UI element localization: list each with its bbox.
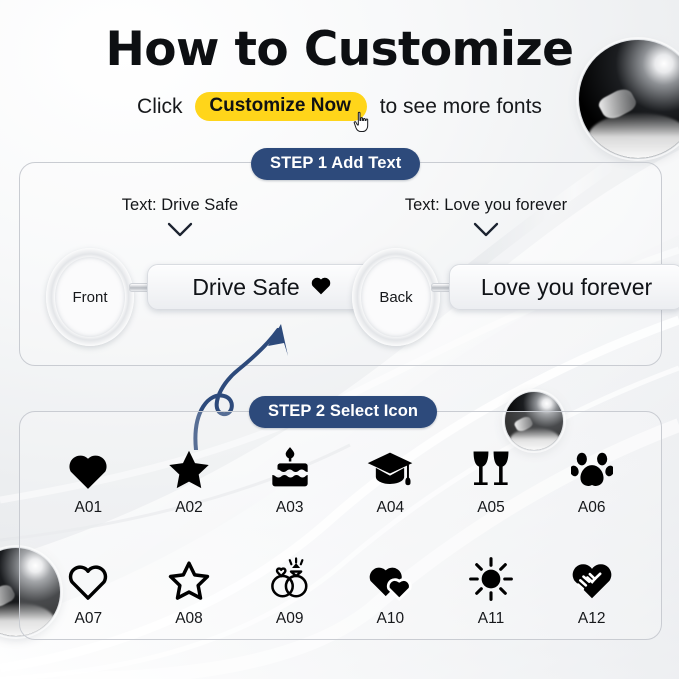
icon-option-a05[interactable]: A05 [441,446,542,517]
icon-option-a03[interactable]: A03 [239,446,340,517]
icon-grid: A01 A02 A03 [38,446,642,628]
icon-option-a04[interactable]: A04 [340,446,441,517]
heart-filled-icon [66,446,110,490]
keyring-back: Back [352,248,440,346]
keyring-back-label: Back [352,248,440,346]
icon-option-a01[interactable]: A01 [38,446,139,517]
icon-option-a02[interactable]: A02 [139,446,240,517]
customize-now-label: Customize Now [209,95,350,116]
icon-code: A02 [175,499,203,517]
hand-pointer-icon [351,110,373,134]
icon-option-a07[interactable]: A07 [38,557,139,628]
icon-option-a10[interactable]: A10 [340,557,441,628]
keychain-plate-back: Love you forever [449,264,679,310]
keychain-plate-back-text: Love you forever [481,274,652,301]
icon-code: A11 [478,610,504,628]
keyring-front-label: Front [46,248,134,346]
icon-option-a09[interactable]: A09 [239,557,340,628]
keychain-plate-front-text: Drive Safe [192,274,299,301]
customize-now-button[interactable]: Customize Now [195,92,366,121]
heart-handshake-icon [569,557,615,601]
wine-glasses-icon [470,446,512,490]
heart-outline-icon [66,557,110,601]
keyring-front: Front [46,248,134,346]
sun-icon [469,557,513,601]
wedding-rings-icon [266,557,314,601]
icon-code: A09 [276,610,304,628]
step2-badge: STEP 2 Select Icon [249,396,437,428]
icon-code: A04 [377,499,405,517]
birthday-cake-icon [270,446,310,490]
icon-code: A01 [75,499,103,517]
star-filled-icon [167,446,211,490]
icon-code: A06 [578,499,606,517]
subtitle-line: Click Customize Now to see more fonts [0,92,679,121]
icon-code: A08 [175,610,203,628]
subtitle-suffix: to see more fonts [380,95,542,118]
icon-option-a06[interactable]: A06 [541,446,642,517]
keychain-back-caption: Text: Love you forever [336,196,636,215]
subtitle-prefix: Click [137,95,183,118]
graduation-cap-icon [367,446,413,490]
page-canvas: How to Customize Click Customize Now to … [0,0,679,679]
step1-badge: STEP 1 Add Text [251,148,420,180]
icon-option-a11[interactable]: A11 [441,557,542,628]
icon-code: A07 [75,610,103,628]
page-title: How to Customize [0,22,679,77]
chevron-down-icon [30,222,330,243]
keychain-front-caption: Text: Drive Safe [30,196,330,215]
chevron-down-icon [336,222,636,243]
icon-code: A05 [477,499,505,517]
icon-code: A12 [578,610,606,628]
double-hearts-icon [366,557,414,601]
heart-icon [310,275,332,299]
star-outline-icon [167,557,211,601]
icon-code: A10 [377,610,405,628]
paw-print-icon [571,446,613,490]
icon-option-a12[interactable]: A12 [541,557,642,628]
icon-code: A03 [276,499,304,517]
icon-option-a08[interactable]: A08 [139,557,240,628]
